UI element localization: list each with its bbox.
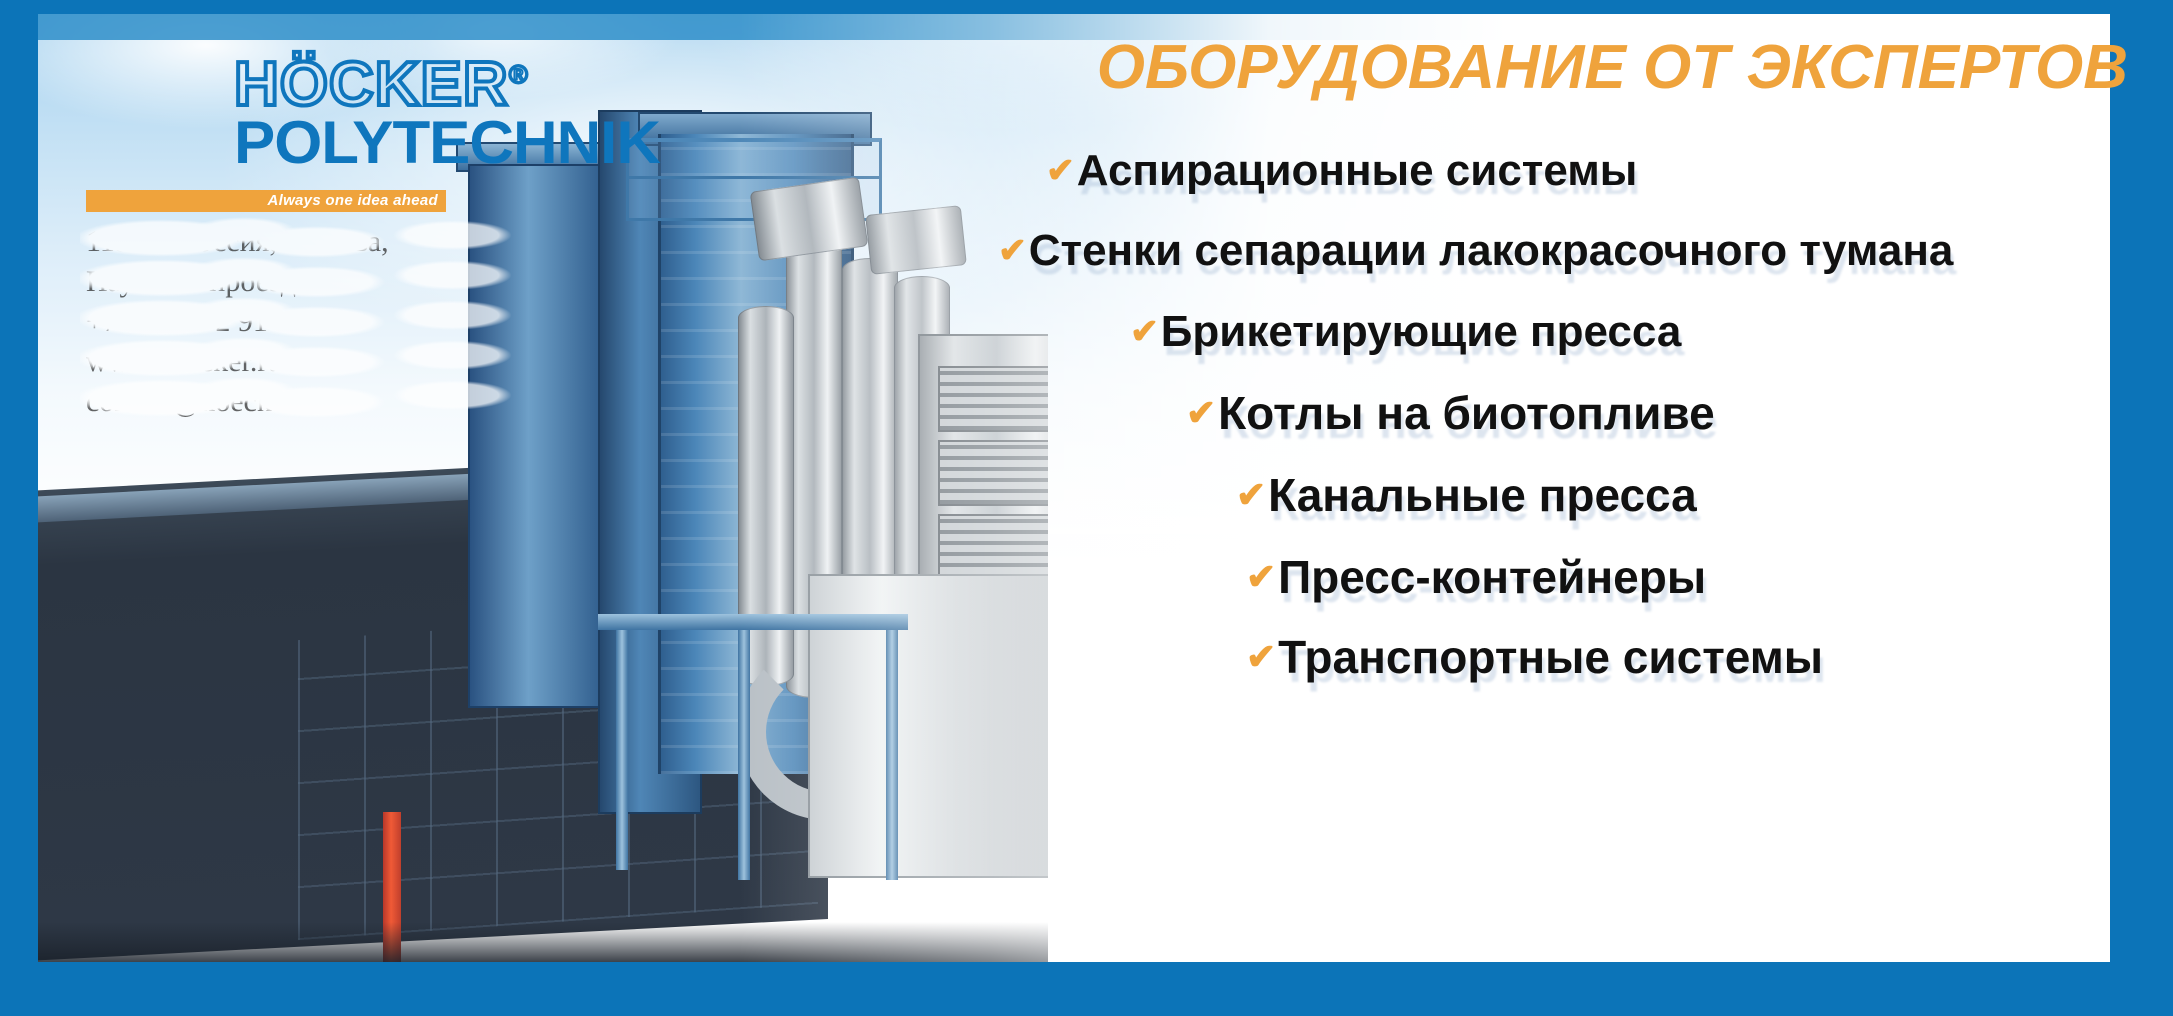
list-item: ✔ Аспирационные системы bbox=[1046, 132, 2128, 210]
list-item: ✔ Транспортные системы bbox=[1246, 618, 2128, 696]
check-icon: ✔ bbox=[1186, 393, 1216, 434]
banner-stage: HÖCKER® POLYTECHNIK Always one idea ahea… bbox=[38, 14, 2136, 962]
registered-trademark-icon: ® bbox=[509, 59, 529, 89]
check-icon: ✔ bbox=[998, 231, 1027, 271]
contact-line-phone: +7 495 63 2 91 24 bbox=[86, 302, 506, 342]
list-item-label: Пресс-контейнеры bbox=[1278, 550, 1706, 604]
list-item-label: Брикетирующие пресса bbox=[1161, 307, 1682, 357]
contact-line-website: www.hoecker.ru bbox=[86, 342, 506, 382]
list-item: ✔ Стенки сепарации лакокрасочного тумана bbox=[998, 210, 2128, 292]
list-item: ✔ Пресс-контейнеры bbox=[1246, 536, 2128, 618]
list-item: ✔ Котлы на биотопливе bbox=[1186, 372, 2128, 454]
list-item: ✔ Канальные пресса bbox=[1236, 454, 2128, 536]
list-item-label: Транспортные системы bbox=[1278, 630, 1823, 684]
advertisement-banner: HÖCKER® POLYTECHNIK Always one idea ahea… bbox=[0, 0, 2173, 1016]
contact-line-street: Научный проезд bbox=[86, 262, 506, 302]
logo-wordmark-polytechnik: POLYTECHNIK bbox=[234, 115, 667, 170]
logo-wordmark-hocker: HÖCKER® bbox=[234, 56, 654, 115]
contact-block: 119311 Россия, Москва, Научный проезд +7… bbox=[86, 222, 506, 422]
tagline-text: Always one idea ahead bbox=[267, 192, 438, 209]
product-list: ✔ Аспирационные системы ✔ Стенки сепарац… bbox=[998, 132, 2128, 696]
check-icon: ✔ bbox=[1236, 475, 1266, 516]
list-item-label: Стенки сепарации лакокрасочного тумана bbox=[1029, 226, 1954, 276]
contact-line-address: 119311 Россия, Москва, bbox=[86, 222, 506, 262]
contact-line-email: contact@hoecker.ru bbox=[86, 382, 506, 422]
list-item: ✔ Брикетирующие пресса bbox=[1130, 292, 2128, 372]
platform-leg-1 bbox=[616, 630, 628, 870]
check-icon: ✔ bbox=[1246, 557, 1276, 598]
list-item-label: Котлы на биотопливе bbox=[1218, 386, 1715, 440]
check-icon: ✔ bbox=[1130, 312, 1159, 352]
page-title: ОБОРУДОВАНИЕ ОТ ЭКСПЕРТОВ bbox=[858, 32, 2128, 103]
tagline-bar: Always one idea ahead bbox=[86, 190, 446, 212]
company-logo: HÖCKER® POLYTECHNIK bbox=[234, 56, 654, 170]
list-item-label: Канальные пресса bbox=[1268, 468, 1697, 522]
check-icon: ✔ bbox=[1246, 637, 1276, 678]
check-icon: ✔ bbox=[1046, 151, 1075, 191]
list-item-label: Аспирационные системы bbox=[1077, 146, 1638, 196]
